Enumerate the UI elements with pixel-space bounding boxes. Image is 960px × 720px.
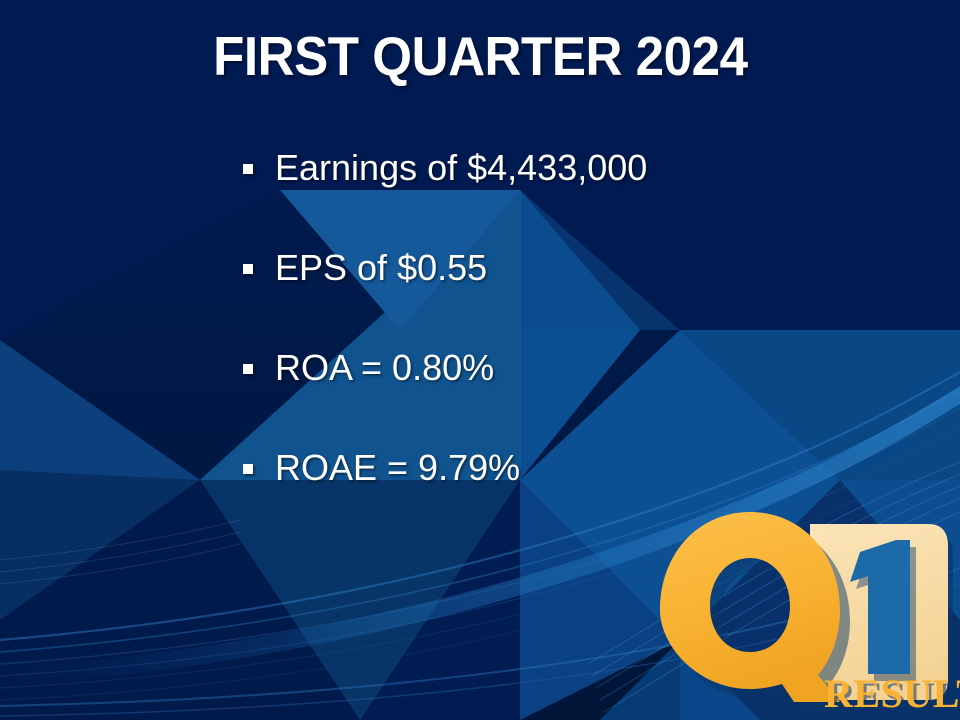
logo-wordmark: RESULTS RESULTS [824,671,960,719]
square-bullet-icon [243,164,253,174]
square-bullet-icon [243,364,253,374]
bullet-text-roae: ROAE = 9.79% [275,447,520,489]
svg-text:RESULTS: RESULTS [824,671,960,716]
page-title: FIRST QUARTER 2024 [213,28,748,86]
q1-results-logo: RESULTS RESULTS [648,492,960,720]
presentation-slide: FIRST QUARTER 2024 Earnings of $4,433,00… [0,0,960,720]
bullet-text-earnings: Earnings of $4,433,000 [275,147,647,189]
metrics-bullet-list: Earnings of $4,433,000 EPS of $0.55 ROA … [243,147,883,547]
list-item: Earnings of $4,433,000 [243,147,883,247]
list-item: ROA = 0.80% [243,347,883,447]
title-block: FIRST QUARTER 2024 [0,28,960,86]
bullet-text-roa: ROA = 0.80% [275,347,494,389]
square-bullet-icon [243,264,253,274]
list-item: EPS of $0.55 [243,247,883,347]
logo-letter-q [660,512,840,702]
q1-results-logo-graphic: RESULTS RESULTS [648,492,960,720]
square-bullet-icon [243,464,253,474]
bullet-text-eps: EPS of $0.55 [275,247,487,289]
